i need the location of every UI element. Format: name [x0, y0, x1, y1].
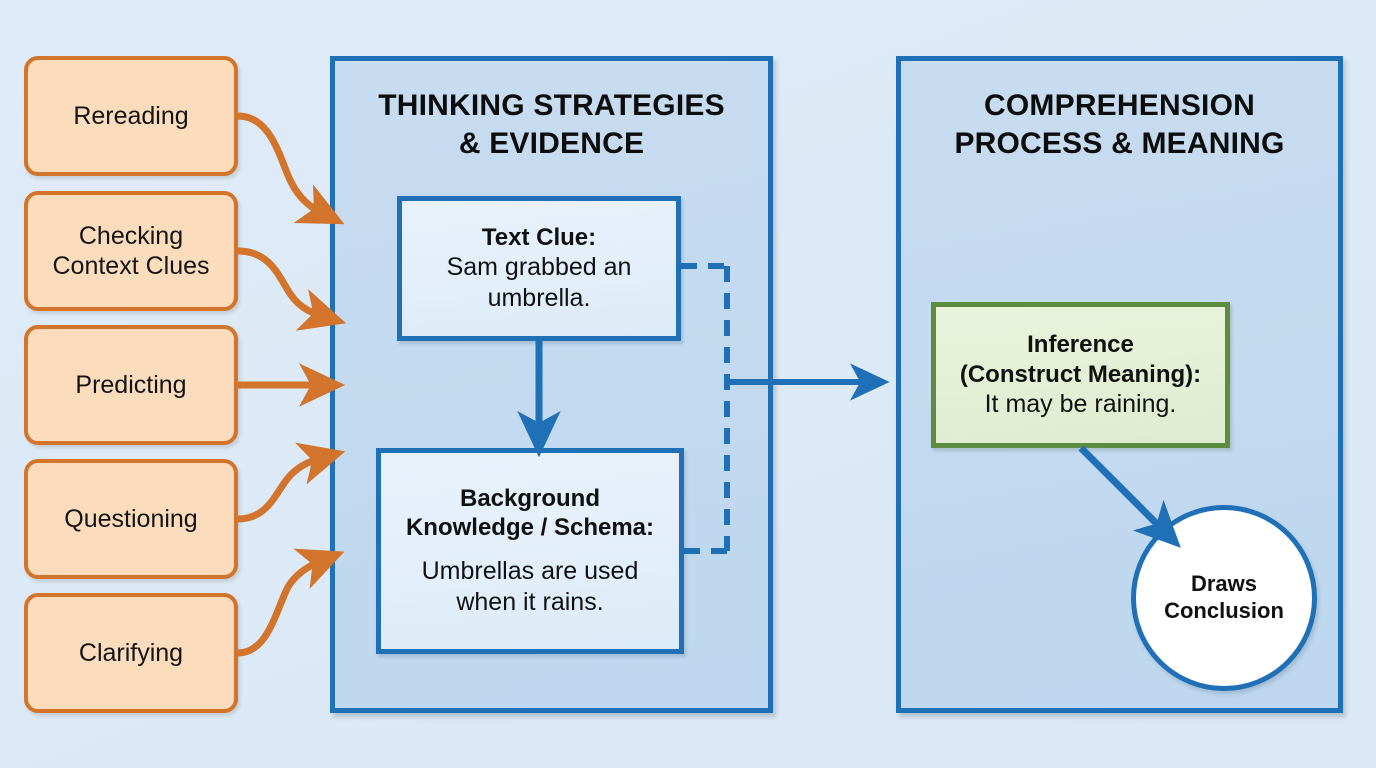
right-panel-title: COMPREHENSION PROCESS & MEANING — [901, 87, 1338, 163]
diagram-canvas: Rereading Checking Context Clues Predict… — [0, 0, 1376, 768]
strategy-box-predicting[interactable]: Predicting — [24, 325, 238, 445]
connector-checking-context-clues — [238, 251, 322, 316]
evidence-box-background-knowledge[interactable]: Background Knowledge / Schema: Umbrellas… — [376, 448, 684, 654]
text-clue-body: Sam grabbed an umbrella. — [447, 252, 632, 314]
text-clue-heading: Text Clue: — [482, 223, 596, 252]
strategy-label: Predicting — [75, 370, 186, 401]
strategy-box-clarifying[interactable]: Clarifying — [24, 593, 238, 713]
strategy-label: Questioning — [64, 504, 197, 535]
evidence-box-text-clue[interactable]: Text Clue: Sam grabbed an umbrella. — [397, 196, 681, 341]
conclusion-circle[interactable]: Draws Conclusion — [1131, 505, 1317, 691]
connector-clarifying — [238, 561, 321, 653]
background-knowledge-heading: Background Knowledge / Schema: — [406, 484, 654, 543]
center-panel-title: THINKING STRATEGIES & EVIDENCE — [335, 87, 768, 163]
connector-questioning — [238, 458, 321, 519]
inference-body: It may be raining. — [985, 389, 1177, 420]
strategy-label: Rereading — [73, 101, 188, 132]
connector-rereading — [238, 116, 322, 213]
background-knowledge-body: Umbrellas are used when it rains. — [422, 556, 639, 618]
inference-heading: Inference (Construct Meaning): — [960, 330, 1201, 389]
strategy-label: Checking Context Clues — [52, 221, 209, 282]
strategy-box-checking-context-clues[interactable]: Checking Context Clues — [24, 191, 238, 311]
strategy-box-rereading[interactable]: Rereading — [24, 56, 238, 176]
strategy-box-questioning[interactable]: Questioning — [24, 459, 238, 579]
conclusion-label: Draws Conclusion — [1164, 571, 1284, 625]
inference-box[interactable]: Inference (Construct Meaning): It may be… — [931, 302, 1230, 448]
strategy-label: Clarifying — [79, 638, 183, 669]
strategy-connectors — [238, 116, 322, 653]
